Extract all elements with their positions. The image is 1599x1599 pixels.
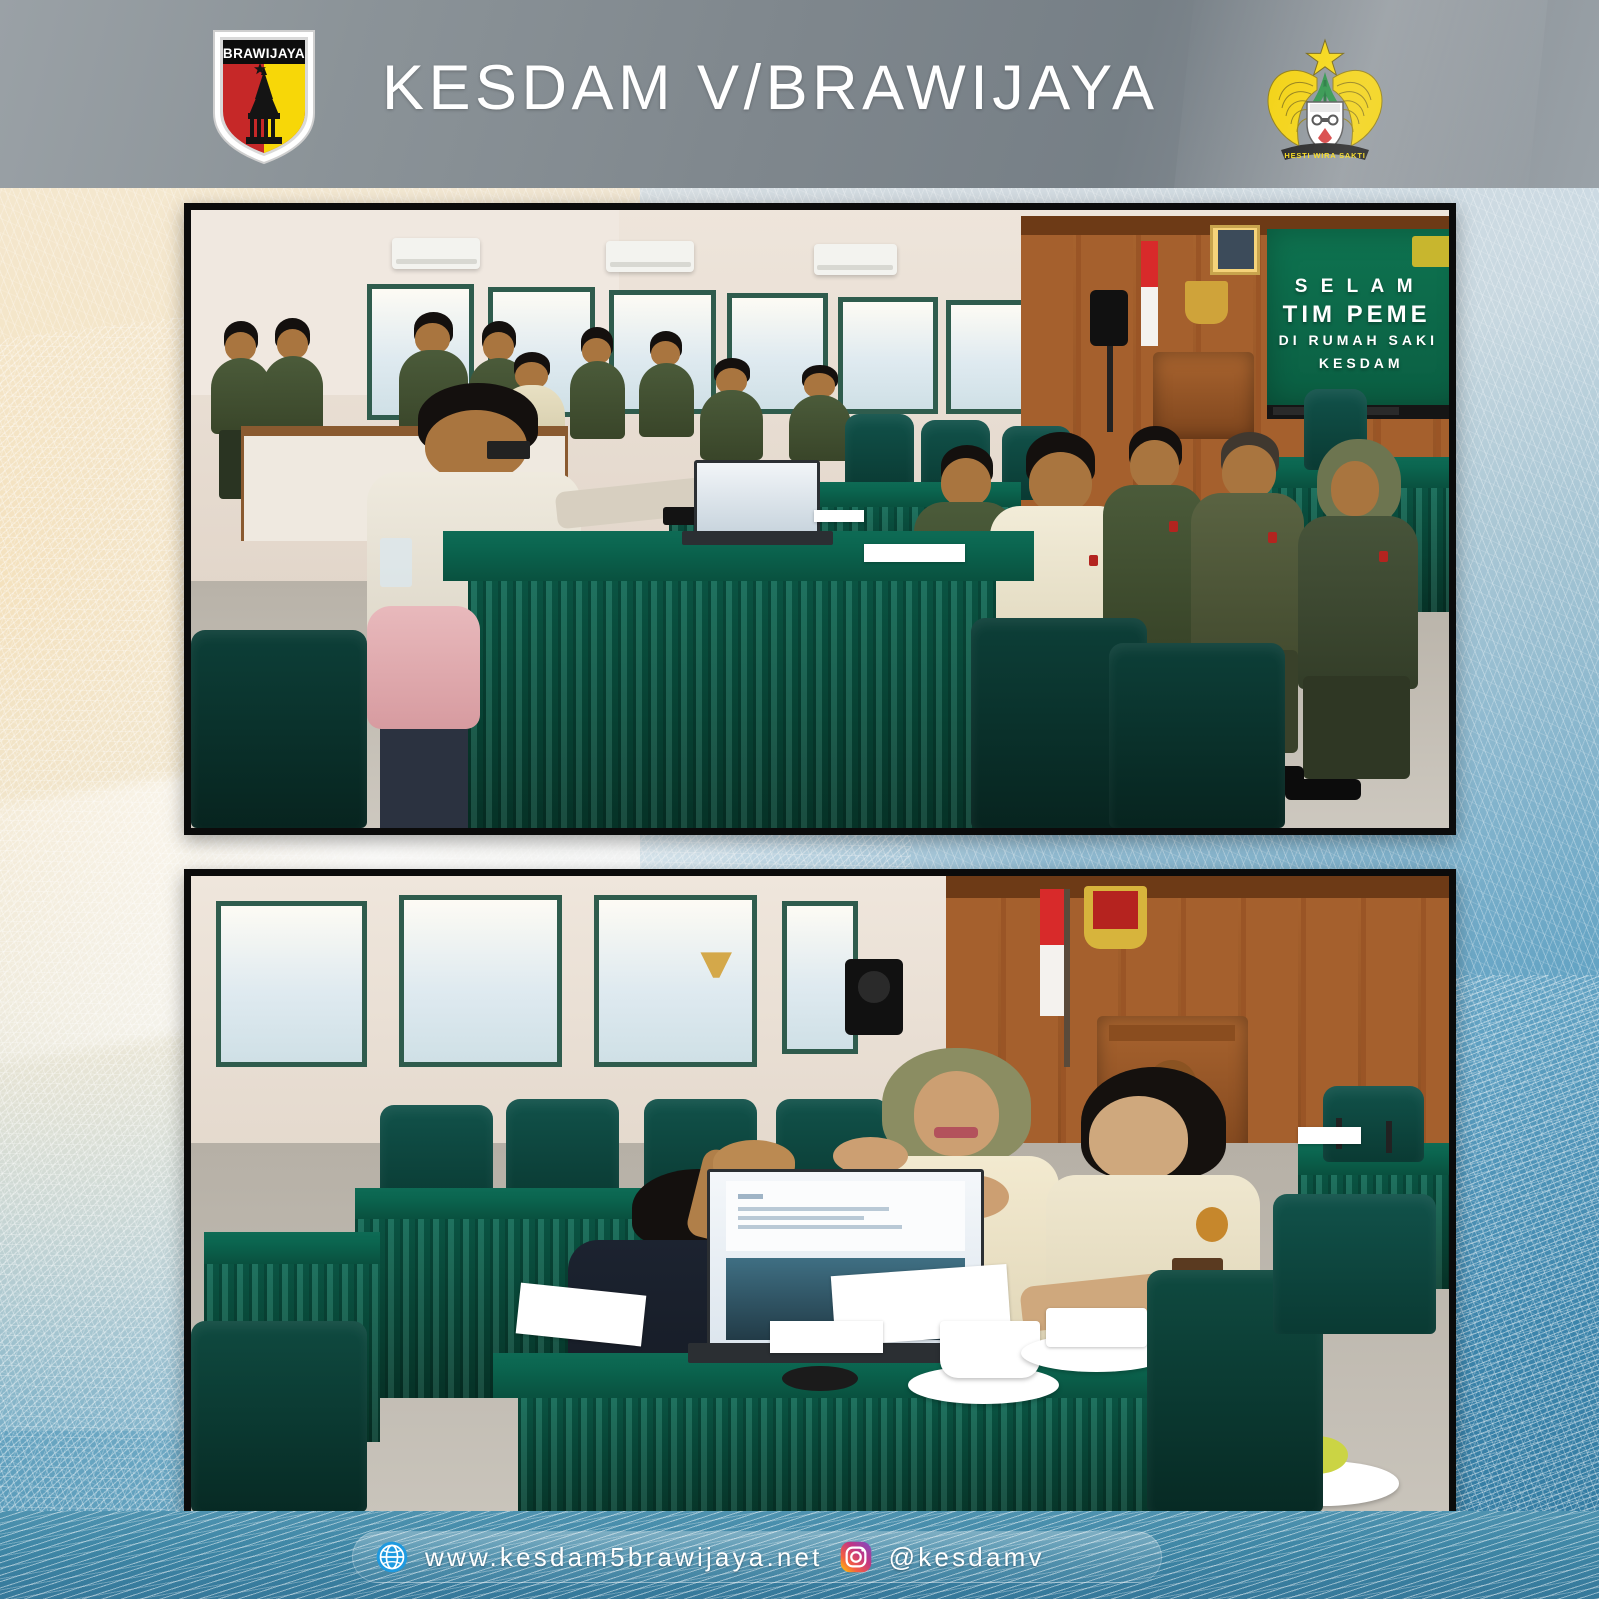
poster-canvas: BRAWIJAYA <box>0 0 1599 1599</box>
projection-screen-line-1: S E L A M <box>1295 276 1417 298</box>
photo-assessment-interview-table <box>184 869 1456 1519</box>
brawijaya-shield-logo: BRAWIJAYA <box>208 27 320 167</box>
svg-text:HESTI WIRA SAKTI: HESTI WIRA SAKTI <box>1284 151 1365 160</box>
projection-screen-line-4: KESDAM <box>1319 355 1404 371</box>
projection-screen-line-2: TIM PEME <box>1283 301 1431 329</box>
page-title: KESDAM V/BRAWIJAYA <box>382 52 1182 124</box>
website-text[interactable]: www.kesdam5brawijaya.net <box>425 1542 823 1573</box>
svg-text:BRAWIJAYA: BRAWIJAYA <box>223 46 305 61</box>
header-banner: BRAWIJAYA <box>0 0 1599 188</box>
instagram-icon[interactable] <box>839 1540 873 1574</box>
kodam-garuda-emblem: HESTI WIRA SAKTI <box>1255 30 1395 170</box>
globe-icon[interactable] <box>375 1540 409 1574</box>
instagram-handle-text[interactable]: @kesdamv <box>889 1542 1045 1573</box>
photo-meeting-room-officers: S E L A M TIM PEME DI RUMAH SAKI KESDAM <box>184 203 1456 835</box>
projection-screen-line-3: DI RUMAH SAKI <box>1279 332 1438 348</box>
footer-bar: www.kesdam5brawijaya.net @kesdamv <box>0 1511 1599 1599</box>
footer-contact-pill: www.kesdam5brawijaya.net @kesdamv <box>352 1531 1162 1583</box>
